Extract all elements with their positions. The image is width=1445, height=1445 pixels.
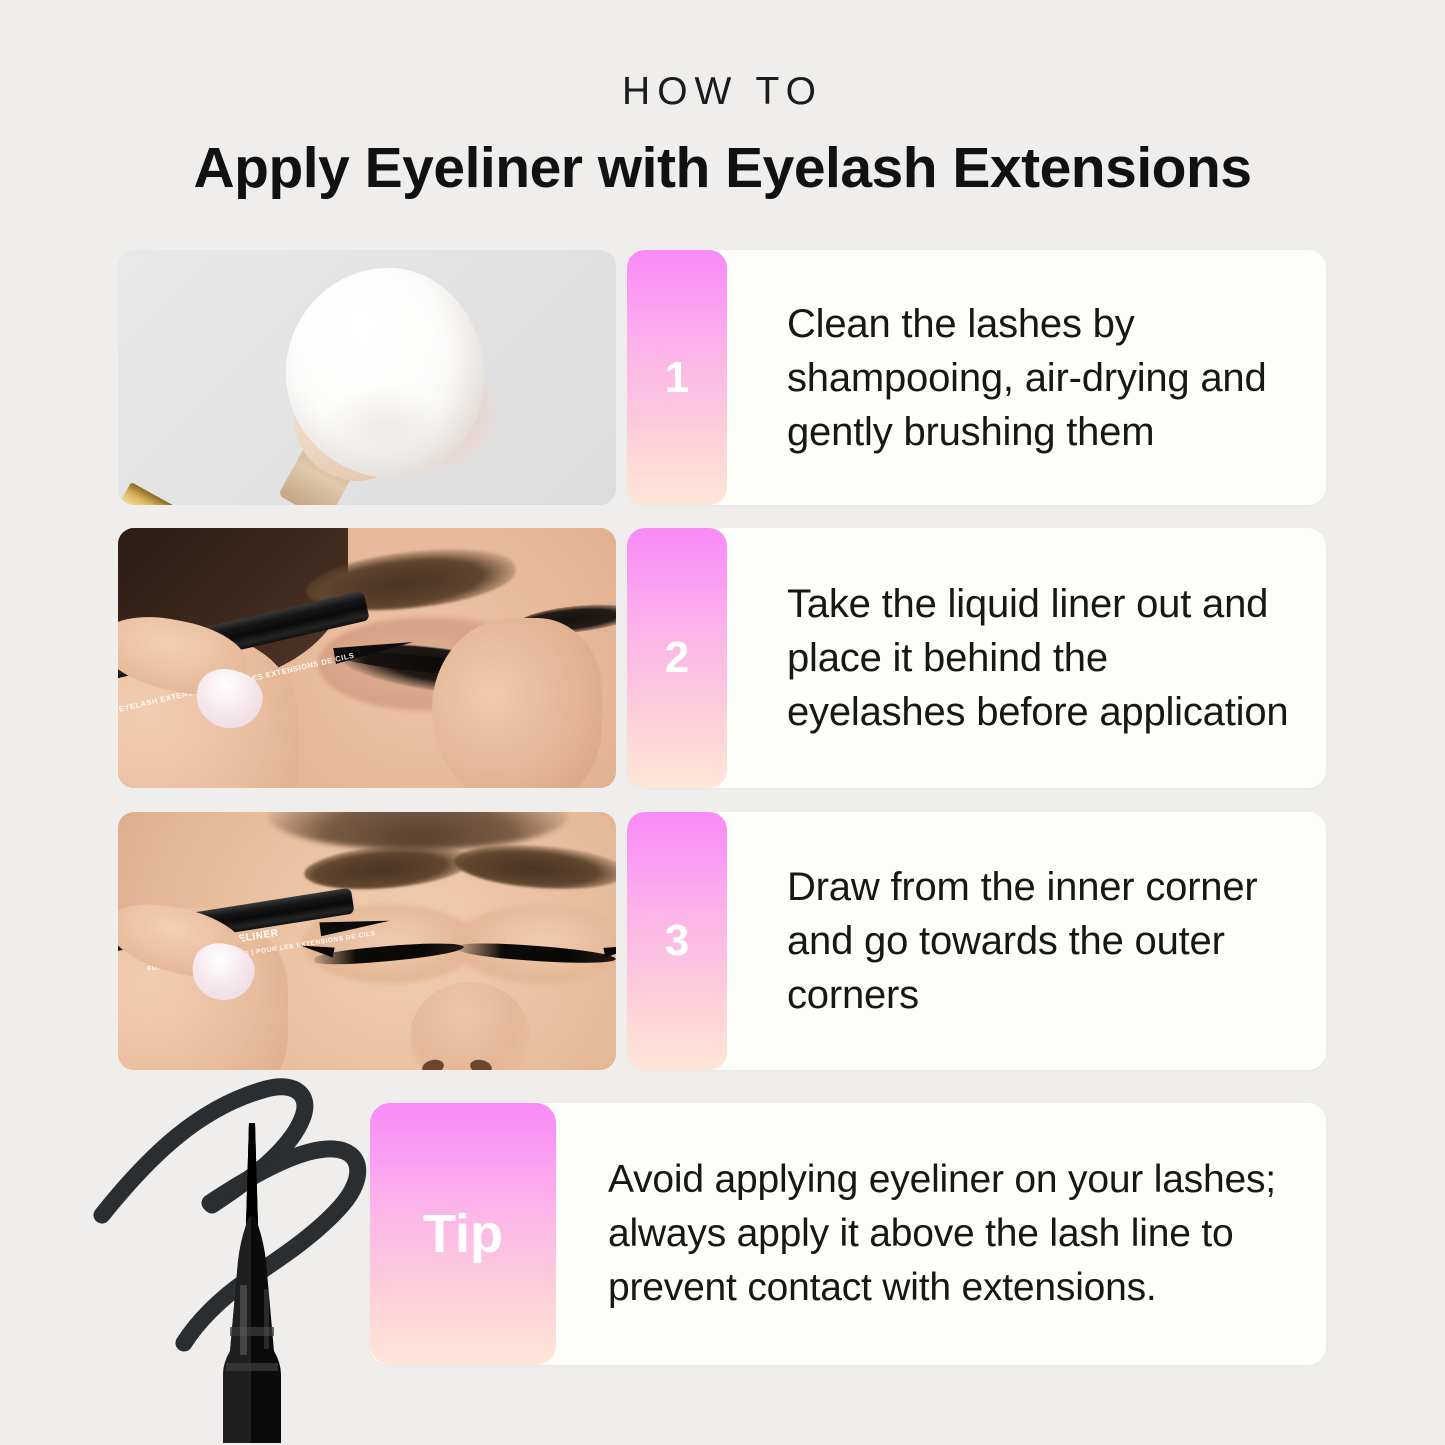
step-1-text: Clean the lashes by shampooing, air-dryi… — [727, 250, 1326, 505]
step-2-badge: 2 — [627, 528, 727, 788]
tip-card: Tip Avoid applying eyeliner on your lash… — [370, 1103, 1326, 1365]
step-2-text: Take the liquid liner out and place it b… — [727, 528, 1326, 788]
step-2-card: 2 Take the liquid liner out and place it… — [627, 528, 1326, 788]
eyeliner-pen-graphic — [80, 1075, 420, 1445]
pen-body — [223, 1123, 281, 1443]
tip-row: Tip Avoid applying eyeliner on your lash… — [370, 1103, 1326, 1365]
header: HOW TO Apply Eyeliner with Eyelash Exten… — [0, 0, 1445, 199]
step-1-image — [118, 250, 616, 505]
page-title: Apply Eyeliner with Eyelash Extensions — [0, 139, 1445, 199]
nose — [432, 618, 602, 788]
step-3-card: 3 Draw from the inner corner and go towa… — [627, 812, 1326, 1070]
step-3-badge: 3 — [627, 812, 727, 1070]
step-2-image: EYELINER FOR EYELASH EXTENSIONS | POUR L… — [118, 528, 616, 788]
step-3-image: EYELINER FOR EYELASH EXTENSIONS | POUR L… — [118, 812, 616, 1070]
kicker-text: HOW TO — [0, 72, 1445, 111]
step-row-2: EYELINER FOR EYELASH EXTENSIONS | POUR L… — [118, 528, 1326, 788]
infographic-root: HOW TO Apply Eyeliner with Eyelash Exten… — [0, 0, 1445, 1445]
step-3-text: Draw from the inner corner and go toward… — [727, 812, 1326, 1070]
tip-text: Avoid applying eyeliner on your lashes; … — [556, 1103, 1326, 1365]
scribble-stroke-icon — [102, 1087, 358, 1343]
step-1-badge: 1 — [627, 250, 727, 505]
step-1-card: 1 Clean the lashes by shampooing, air-dr… — [627, 250, 1326, 505]
step-row-1: 1 Clean the lashes by shampooing, air-dr… — [118, 250, 1326, 505]
step-row-3: EYELINER FOR EYELASH EXTENSIONS | POUR L… — [118, 812, 1326, 1070]
tip-badge: Tip — [370, 1103, 556, 1365]
foam-blob — [286, 268, 484, 478]
